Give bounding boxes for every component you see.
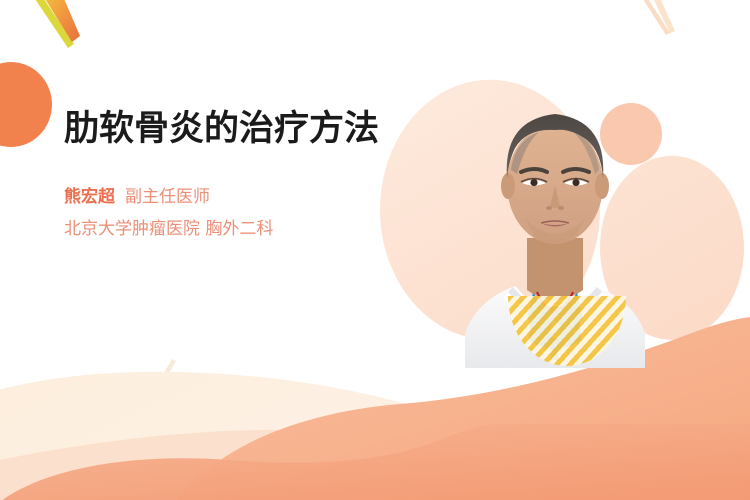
- page-title: 肋软骨炎的治疗方法: [64, 110, 414, 149]
- doctor-affiliation: 北京大学肿瘤医院 胸外二科: [64, 213, 414, 245]
- doctor-intro-card: 肋软骨炎的治疗方法 熊宏超副主任医师 北京大学肿瘤医院 胸外二科: [0, 0, 750, 500]
- doctor-name: 熊宏超: [64, 187, 115, 207]
- doctor-name-role-line: 熊宏超副主任医师: [64, 181, 414, 213]
- doctor-meta: 熊宏超副主任医师 北京大学肿瘤医院 胸外二科: [64, 181, 414, 246]
- text-block: 肋软骨炎的治疗方法 熊宏超副主任医师 北京大学肿瘤医院 胸外二科: [64, 110, 414, 246]
- accent-lines-peach-topright: [641, 0, 675, 35]
- doctor-role: 副主任医师: [125, 187, 210, 207]
